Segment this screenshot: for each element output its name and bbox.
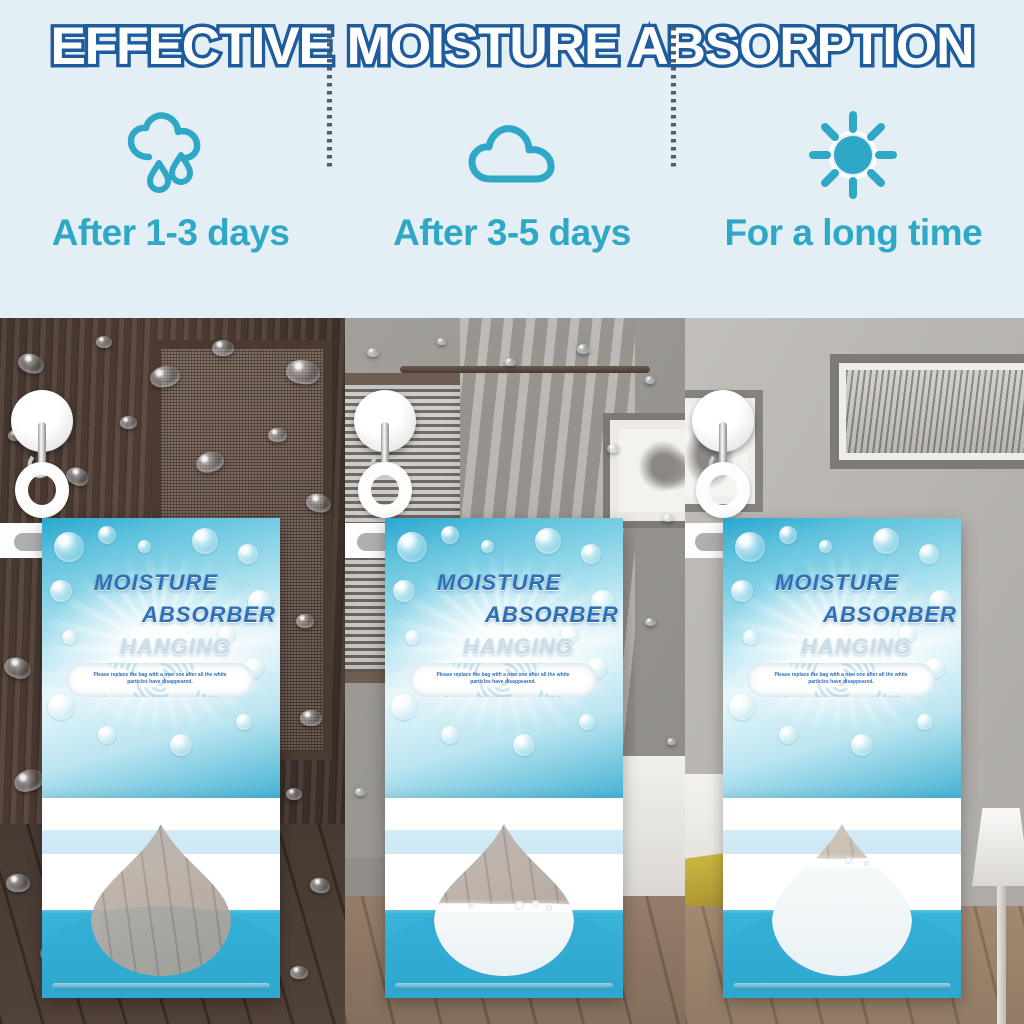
- teardrop-window-1: [91, 824, 231, 976]
- feature-divider-1: [327, 27, 332, 167]
- framed-picture: [603, 413, 685, 528]
- feature-item-2: After 3-5 days: [341, 100, 682, 300]
- teardrop-window-3: [772, 824, 912, 976]
- bag-label-front: MOISTURE ABSORBER HANGING BAG Please rep…: [42, 518, 280, 798]
- feature-item-3: For a long time: [683, 100, 1024, 300]
- bag-line-2: ABSORBER: [723, 602, 961, 628]
- page-title-fill: EFFECTIVE MOISTURE ABSORPTION: [0, 16, 1024, 77]
- scene-panel-2: MOISTURE ABSORBER HANGING BAG Please rep…: [345, 318, 685, 1024]
- water-chamber-1: [42, 798, 280, 998]
- bag-line-1: MOISTURE: [42, 570, 280, 596]
- collected-water-level-3: [772, 867, 912, 976]
- feature-item-1: After 1-3 days: [0, 100, 341, 300]
- sun-icon: [808, 100, 898, 210]
- header-banner: EFFECTIVE MOISTURE ABSORPTION EFFECTIVE …: [0, 0, 1024, 318]
- curtain-rod: [400, 366, 650, 373]
- water-chamber-2: [385, 798, 623, 998]
- photo-band: MOISTURE ABSORBER HANGING BAG Please rep…: [0, 318, 1024, 1024]
- bag-label-front: MOISTURE ABSORBER HANGING BAG Please rep…: [385, 518, 623, 798]
- pellet-window: Please replace the bag with a new one af…: [66, 663, 254, 697]
- scene-panel-3: MOISTURE ABSORBER HANGING BAG Please rep…: [685, 318, 1024, 1024]
- framed-artwork-wide: [830, 354, 1024, 469]
- feature-label-1: After 1-3 days: [52, 212, 290, 254]
- bag-line-1: MOISTURE: [385, 570, 623, 596]
- bag-fine-print: Please replace the bag with a new one af…: [747, 672, 935, 686]
- feature-row: After 1-3 days After 3-5 days: [0, 100, 1024, 300]
- pellet-window: Please replace the bag with a new one af…: [409, 663, 597, 697]
- rain-cloud-icon: [123, 100, 219, 210]
- bag-fine-print: Please replace the bag with a new one af…: [66, 672, 254, 686]
- feature-label-2: After 3-5 days: [393, 212, 631, 254]
- bag-line-2: ABSORBER: [42, 602, 280, 628]
- pellet-window: Please replace the bag with a new one af…: [747, 663, 935, 697]
- bag-line-1: MOISTURE: [723, 570, 961, 596]
- bag-line-2: ABSORBER: [385, 602, 623, 628]
- feature-label-3: For a long time: [724, 212, 982, 254]
- teardrop-window-2: [434, 824, 574, 976]
- floor-lamp-stand: [997, 874, 1006, 1024]
- bag-fine-print: Please replace the bag with a new one af…: [409, 672, 597, 686]
- feature-divider-2: [671, 27, 676, 167]
- bag-label-front: MOISTURE ABSORBER HANGING BAG Please rep…: [723, 518, 961, 798]
- water-chamber-3: [723, 798, 961, 998]
- scene-panel-1: MOISTURE ABSORBER HANGING BAG Please rep…: [0, 318, 345, 1024]
- cloud-icon: [464, 100, 560, 210]
